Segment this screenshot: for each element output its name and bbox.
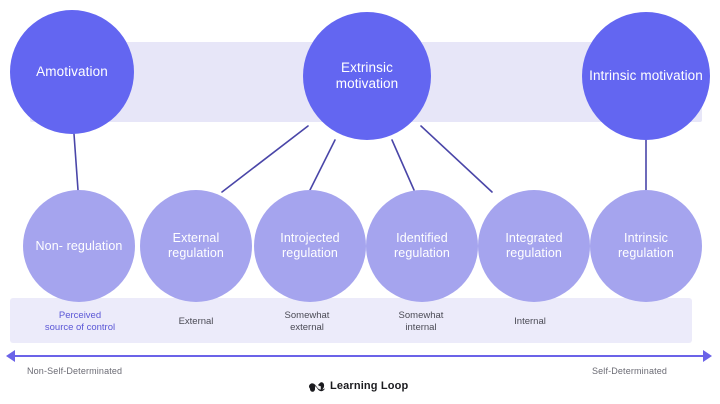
node-introjected-regulation-label: Introjected regulation bbox=[254, 231, 366, 261]
connector-extrinsic-motivation-to-introjected-regulation bbox=[310, 140, 335, 190]
node-extrinsic-motivation[interactable]: Extrinsic motivation bbox=[303, 12, 431, 140]
node-intrinsic-regulation-label: Intrinsic regulation bbox=[590, 231, 702, 261]
connector-extrinsic-motivation-to-external-regulation bbox=[222, 126, 308, 192]
node-non-regulation[interactable]: Non- regulation bbox=[23, 190, 135, 302]
continuum-axis-line bbox=[12, 355, 708, 357]
node-amotivation-label: Amotivation bbox=[30, 64, 114, 80]
node-non-regulation-label: Non- regulation bbox=[30, 239, 129, 254]
learning-loop-infinity-icon bbox=[308, 381, 325, 392]
axis-label-non-self-determinated: Non-Self-Determinated bbox=[27, 366, 122, 376]
node-integrated-regulation-label: Integrated regulation bbox=[478, 231, 590, 261]
arrow-right-icon bbox=[703, 350, 712, 362]
axis-label-self-determinated: Self-Determinated bbox=[592, 366, 667, 376]
source-of-control-external: External bbox=[146, 316, 246, 328]
connector-extrinsic-motivation-to-integrated-regulation bbox=[421, 126, 492, 192]
arrow-left-icon bbox=[6, 350, 15, 362]
node-intrinsic-motivation[interactable]: Intrinsic motivation bbox=[582, 12, 710, 140]
node-intrinsic-regulation[interactable]: Intrinsic regulation bbox=[590, 190, 702, 302]
node-identified-regulation[interactable]: Identified regulation bbox=[366, 190, 478, 302]
learning-loop-logo-text: Learning Loop bbox=[330, 380, 408, 392]
connector-extrinsic-motivation-to-identified-regulation bbox=[392, 140, 414, 190]
node-external-regulation[interactable]: External regulation bbox=[140, 190, 252, 302]
source-of-control-somewhat-internal: Somewhat internal bbox=[366, 310, 476, 334]
learning-loop-logo[interactable]: Learning Loop bbox=[308, 380, 408, 392]
node-extrinsic-motivation-label: Extrinsic motivation bbox=[303, 60, 431, 92]
source-of-control-somewhat-external: Somewhat external bbox=[252, 310, 362, 334]
source-of-control-internal: Internal bbox=[480, 316, 580, 328]
node-identified-regulation-label: Identified regulation bbox=[366, 231, 478, 261]
source-of-control-heading: Perceived source of control bbox=[20, 310, 140, 334]
node-amotivation[interactable]: Amotivation bbox=[10, 10, 134, 134]
diagram-canvas: Amotivation Extrinsic motivation Intrins… bbox=[0, 0, 720, 404]
connector-amotivation-to-non-regulation bbox=[74, 134, 78, 190]
node-integrated-regulation[interactable]: Integrated regulation bbox=[478, 190, 590, 302]
node-introjected-regulation[interactable]: Introjected regulation bbox=[254, 190, 366, 302]
node-external-regulation-label: External regulation bbox=[140, 231, 252, 261]
node-intrinsic-motivation-label: Intrinsic motivation bbox=[583, 68, 709, 84]
